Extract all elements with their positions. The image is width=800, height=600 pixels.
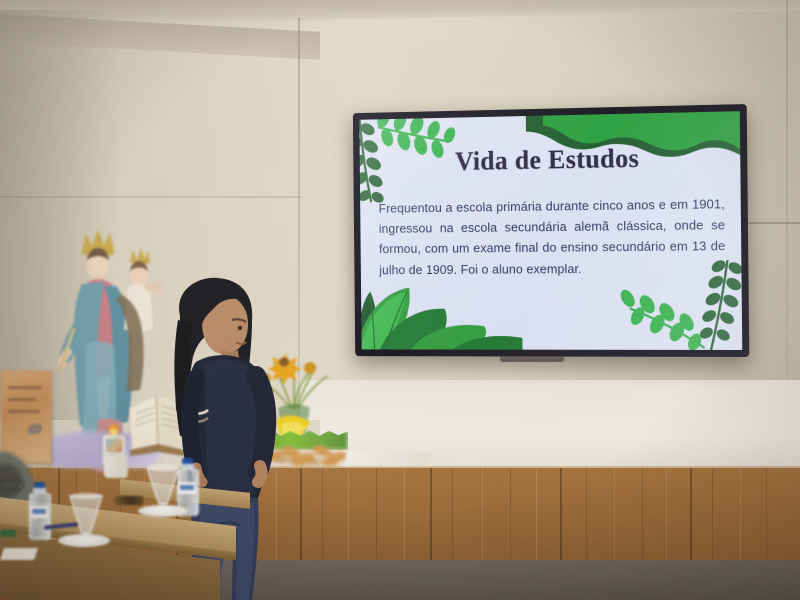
cup-on-counter [104,456,128,478]
water-bottle-left [28,482,50,538]
paper-doily-right [138,505,188,517]
slide-body-text: Frequentou a escola primária durante cin… [379,193,726,280]
attendee-glasses-icon [0,480,24,490]
slide-title: Vida de Estudos [360,141,741,178]
white-papers-on-counter [345,452,432,466]
presentation-slide: Vida de Estudos Frequentou a escola prim… [359,111,742,350]
photo-scene: Vida de Estudos Frequentou a escola prim… [0,0,800,600]
television[interactable]: Vida de Estudos Frequentou a escola prim… [353,104,749,357]
tv-screen: Vida de Estudos Frequentou a escola prim… [359,111,742,350]
framed-poster-left [0,370,52,464]
small-green-object [0,530,16,537]
big-leaves-bottom-left-icon [359,277,524,350]
wall-seam-right [748,222,800,224]
wall-seam-left [0,196,302,198]
napkin-on-table [0,548,38,560]
keys-on-table [114,496,144,505]
paper-doily-left [58,534,110,547]
